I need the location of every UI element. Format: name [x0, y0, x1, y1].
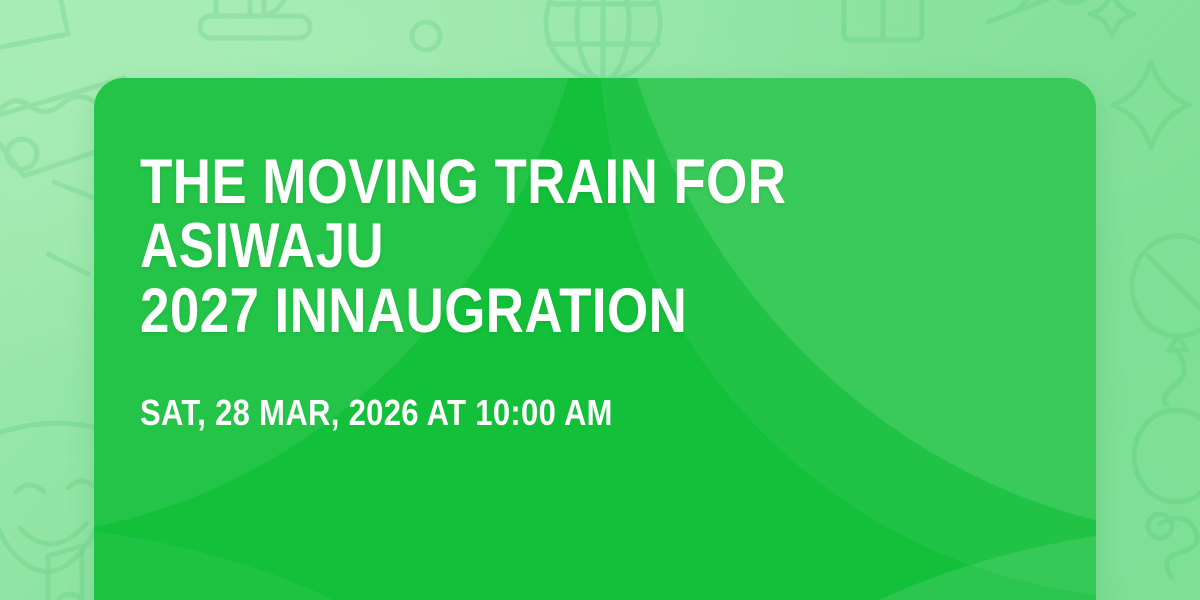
card-content: The Moving Train For Asiwaju 2027 Innaug…: [140, 150, 1050, 434]
ticket-stub-icon: [0, 0, 80, 82]
gift-icon: [828, 0, 938, 52]
confetti-icon: [404, 14, 448, 58]
petal-bottom-left: [94, 525, 604, 600]
event-banner: The Moving Train For Asiwaju 2027 Innaug…: [0, 0, 1200, 600]
balloon-icon: [1124, 232, 1200, 407]
podium-icon: [178, 0, 328, 64]
music-note-icon: [14, 540, 104, 600]
event-card[interactable]: The Moving Train For Asiwaju 2027 Innaug…: [94, 78, 1096, 600]
sparkle-icon: [1106, 56, 1196, 154]
globe-icon: [538, 0, 668, 88]
event-date: Sat, 28 Mar, 2026 at 10:00 AM: [140, 392, 923, 434]
sparkle-small-icon: [1086, 0, 1138, 40]
petal-bottom-right: [600, 525, 1096, 600]
balloon-cluster-icon: [1130, 404, 1200, 594]
event-title: The Moving Train For Asiwaju 2027 Innaug…: [140, 150, 904, 343]
